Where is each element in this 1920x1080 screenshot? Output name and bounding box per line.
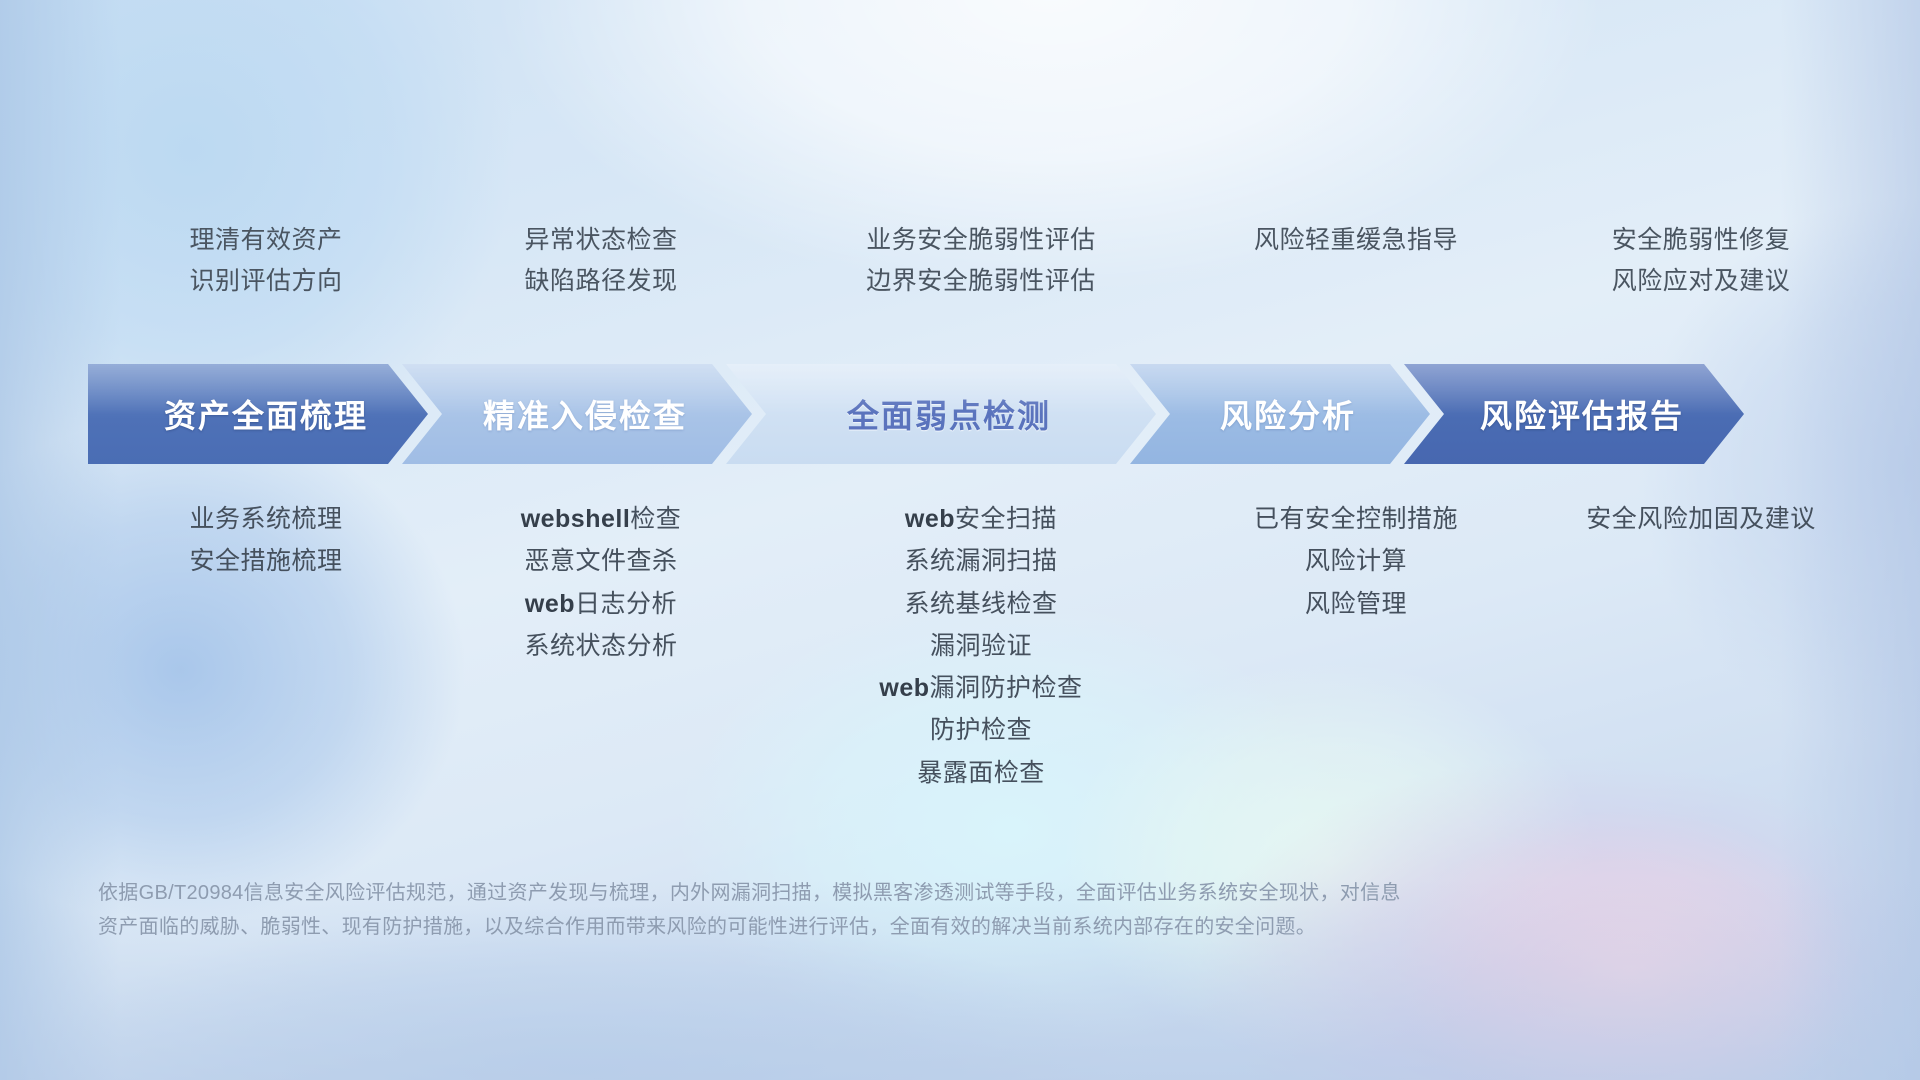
process-stage-chevron-4[interactable]: 风险分析 [1130,364,1430,464]
stage-detail-item: 暴露面检查 [917,760,1045,786]
stage-top-label: 异常状态检查 [524,228,677,253]
stage-detail-list-1: 业务系统梳理安全措施梳理 [96,506,436,575]
process-chevron-banner: 资产全面梳理精准入侵检查全面弱点检测风险分析风险评估报告 [88,364,1848,464]
process-stage-title: 精准入侵检查 [467,391,687,437]
footer-line-2: 资产面临的威胁、脆弱性、现有防护措施，以及综合作用而带来风险的可能性进行评估，全… [98,910,1818,944]
stage-top-labels-5: 安全脆弱性修复风险应对及建议 [1516,228,1886,320]
stage-detail-list-4: 已有安全控制措施风险计算风险管理 [1196,506,1516,617]
stage-detail-item: 风险计算 [1305,548,1407,574]
stage-top-label: 理清有效资产 [189,228,342,253]
process-stage-title: 风险分析 [1204,391,1356,437]
stage-detail-item: 风险管理 [1305,591,1407,617]
process-stage-chevron-5[interactable]: 风险评估报告 [1404,364,1744,464]
stage-top-label: 风险轻重缓急指导 [1254,228,1458,253]
stage-detail-list-2: webshell检查恶意文件查杀web日志分析系统状态分析 [436,506,766,659]
stage-top-label: 缺陷路径发现 [524,269,677,294]
stage-top-labels-row: 理清有效资产识别评估方向异常状态检查缺陷路径发现业务安全脆弱性评估边界安全脆弱性… [96,228,1886,320]
process-stage-chevron-3[interactable]: 全面弱点检测 [726,364,1156,464]
stage-detail-item: 业务系统梳理 [189,506,342,532]
stage-detail-item: 已有安全控制措施 [1254,506,1458,532]
footer-line-1: 依据GB/T20984信息安全风险评估规范，通过资产发现与梳理，内外网漏洞扫描，… [98,876,1818,910]
stage-detail-item: web日志分析 [525,591,677,617]
stage-top-label: 风险应对及建议 [1612,269,1791,294]
stage-detail-list-3: web安全扫描系统漏洞扫描系统基线检查漏洞验证web漏洞防护检查防护检查暴露面检… [766,506,1196,786]
stage-detail-item: 系统状态分析 [524,633,677,659]
footer-description: 依据GB/T20984信息安全风险评估规范，通过资产发现与梳理，内外网漏洞扫描，… [98,876,1818,944]
stage-top-label: 识别评估方向 [189,269,342,294]
stage-detail-item: 安全措施梳理 [189,548,342,574]
stage-detail-columns-row: 业务系统梳理安全措施梳理webshell检查恶意文件查杀web日志分析系统状态分… [96,506,1886,786]
stage-detail-item: 漏洞验证 [930,633,1032,659]
process-stage-title: 资产全面梳理 [148,391,368,437]
stage-detail-item: 系统漏洞扫描 [904,548,1057,574]
stage-top-label: 业务安全脆弱性评估 [866,228,1096,253]
stage-top-labels-4: 风险轻重缓急指导 [1196,228,1516,320]
stage-top-labels-3: 业务安全脆弱性评估边界安全脆弱性评估 [766,228,1196,320]
process-stage-title: 风险评估报告 [1464,391,1684,437]
stage-detail-item: web漏洞防护检查 [879,675,1082,701]
stage-top-labels-1: 理清有效资产识别评估方向 [96,228,436,320]
process-stage-chevron-2[interactable]: 精准入侵检查 [402,364,752,464]
stage-detail-item: 系统基线检查 [904,591,1057,617]
stage-detail-item: 恶意文件查杀 [524,548,677,574]
process-infographic: 理清有效资产识别评估方向异常状态检查缺陷路径发现业务安全脆弱性评估边界安全脆弱性… [0,0,1920,1080]
stage-top-label: 边界安全脆弱性评估 [866,269,1096,294]
process-stage-chevron-1[interactable]: 资产全面梳理 [88,364,428,464]
stage-top-labels-2: 异常状态检查缺陷路径发现 [436,228,766,320]
stage-detail-item: webshell检查 [521,506,682,532]
process-stage-title: 全面弱点检测 [831,391,1051,437]
stage-top-label: 安全脆弱性修复 [1612,228,1791,253]
stage-detail-item: 安全风险加固及建议 [1586,506,1816,532]
stage-detail-item: web安全扫描 [905,506,1057,532]
stage-detail-list-5: 安全风险加固及建议 [1516,506,1886,532]
stage-detail-item: 防护检查 [930,717,1032,743]
